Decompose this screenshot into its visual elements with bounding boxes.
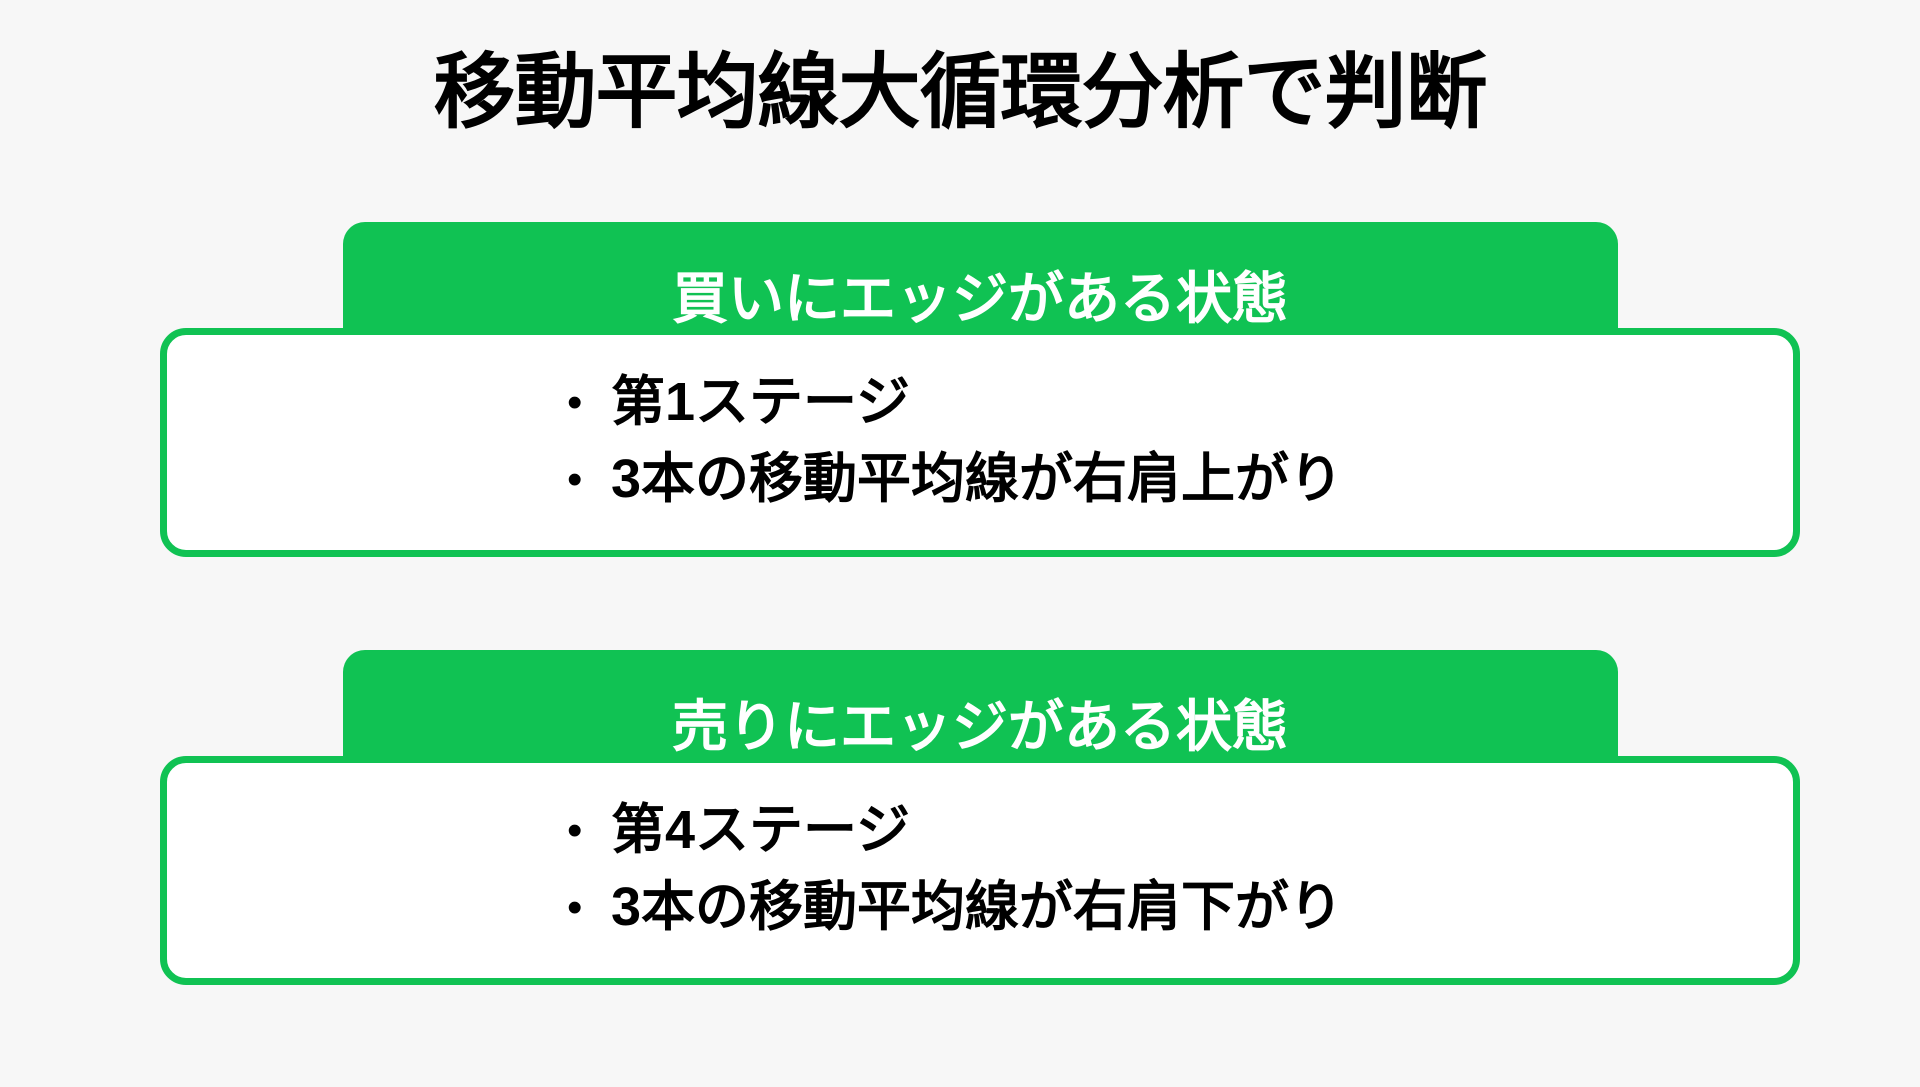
list-item: • 第1ステージ bbox=[167, 367, 1793, 438]
bullet-list-buy-edge: • 第1ステージ • 3本の移動平均線が右肩上がり bbox=[167, 361, 1793, 522]
card-buy-edge: 買いにエッジがある状態 • 第1ステージ • 3本の移動平均線が右肩上がり bbox=[160, 222, 1800, 557]
list-item: • 3本の移動平均線が右肩下がり bbox=[167, 872, 1793, 943]
bullet-dot-icon: • bbox=[567, 458, 611, 502]
bullet-text: 第4ステージ bbox=[611, 795, 910, 866]
card-header-label-sell-edge: 売りにエッジがある状態 bbox=[672, 699, 1288, 755]
bullet-dot-icon: • bbox=[567, 886, 611, 930]
bullet-text: 第1ステージ bbox=[611, 367, 910, 438]
bullet-list-sell-edge: • 第4ステージ • 3本の移動平均線が右肩下がり bbox=[167, 789, 1793, 950]
page-title: 移動平均線大循環分析で判断 bbox=[0, 52, 1920, 134]
card-header-label-buy-edge: 買いにエッジがある状態 bbox=[672, 271, 1288, 327]
list-item: • 3本の移動平均線が右肩上がり bbox=[167, 444, 1793, 515]
slide-canvas: 移動平均線大循環分析で判断 買いにエッジがある状態 • 第1ステージ • 3本の… bbox=[0, 0, 1920, 1087]
card-sell-edge: 売りにエッジがある状態 • 第4ステージ • 3本の移動平均線が右肩下がり bbox=[160, 650, 1800, 985]
card-body-sell-edge: • 第4ステージ • 3本の移動平均線が右肩下がり bbox=[160, 756, 1800, 985]
card-body-buy-edge: • 第1ステージ • 3本の移動平均線が右肩上がり bbox=[160, 328, 1800, 557]
bullet-dot-icon: • bbox=[567, 381, 611, 425]
list-item: • 第4ステージ bbox=[167, 795, 1793, 866]
bullet-text: 3本の移動平均線が右肩下がり bbox=[611, 872, 1343, 943]
bullet-text: 3本の移動平均線が右肩上がり bbox=[611, 444, 1343, 515]
bullet-dot-icon: • bbox=[567, 809, 611, 853]
